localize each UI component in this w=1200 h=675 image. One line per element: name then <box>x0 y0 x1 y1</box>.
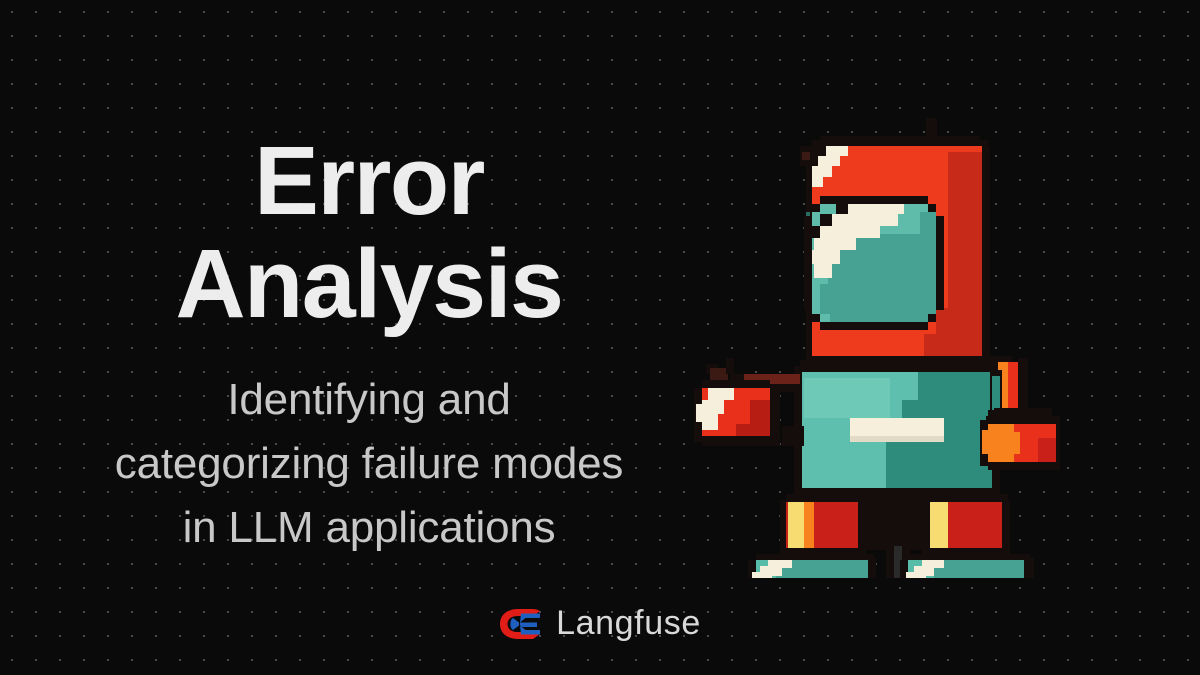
pixel-art-robot: Pixel art robot mascot with red square h… <box>690 108 1060 578</box>
brand-lockup: Langfuse <box>0 604 1200 643</box>
subtitle-line-1: Identifying and <box>0 368 738 432</box>
langfuse-logo-icon <box>499 607 543 641</box>
page-title-line-1: Error <box>0 130 738 233</box>
text-block: Error Analysis Identifying and categoriz… <box>0 130 738 560</box>
slide-canvas: Error Analysis Identifying and categoriz… <box>0 0 1200 675</box>
brand-name: Langfuse <box>556 604 701 643</box>
page-title: Error Analysis <box>0 130 738 336</box>
subtitle: Identifying and categorizing failure mod… <box>0 368 738 561</box>
page-title-line-2: Analysis <box>0 233 738 336</box>
subtitle-line-3: in LLM applications <box>0 496 738 560</box>
subtitle-line-2: categorizing failure modes <box>0 432 738 496</box>
